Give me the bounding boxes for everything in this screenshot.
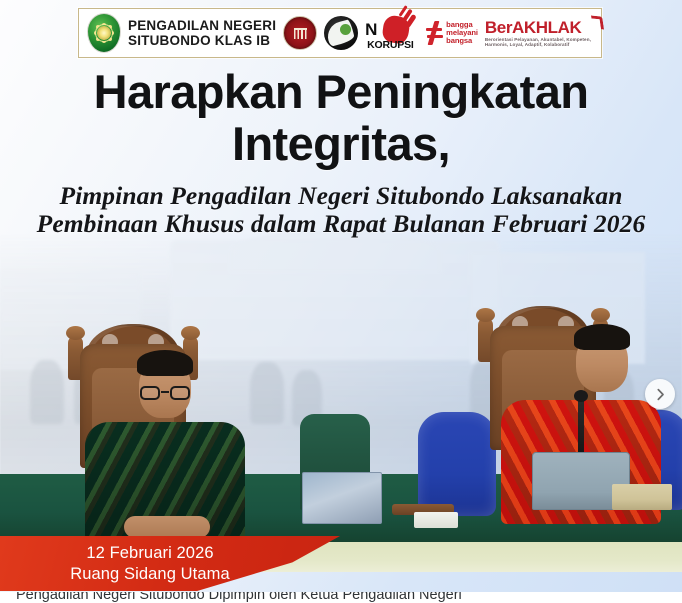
court-emblem-cell: PENGADILAN NEGERI SITUBONDO KLAS IB xyxy=(87,13,276,53)
institution-logo-strip: PENGADILAN NEGERI SITUBONDO KLAS IB N KO… xyxy=(78,8,602,58)
pengadilan-emblem-icon xyxy=(87,13,121,53)
wbk-wbbm-globe-icon xyxy=(324,16,358,50)
anti-corruption-prefix: N xyxy=(365,20,377,40)
event-location: Ruang Sidang Utama xyxy=(70,564,230,585)
event-date: 12 Februari 2026 xyxy=(86,543,213,564)
carousel-next-button[interactable] xyxy=(645,379,675,409)
person-left xyxy=(90,346,240,536)
bmb-line3: bangsa xyxy=(446,37,478,45)
court-name-line1: PENGADILAN NEGERI xyxy=(128,18,276,33)
slide-subheadline: Pimpinan Pengadilan Negeri Situbondo Lak… xyxy=(0,182,682,238)
globe-cell xyxy=(324,16,358,50)
slide-headline: Harapkan Peningkatan Integritas, xyxy=(0,66,682,170)
article-caption-text: Pengadilan Negeri Situbondo Dipimpin ole… xyxy=(16,592,682,603)
berakhlak-logo: BerAKHLAK Berorientasi Pelayanan, Akunta… xyxy=(485,19,603,48)
document-paper xyxy=(414,512,458,528)
bmb-mark-icon xyxy=(426,21,443,45)
bmb-words: bangga melayani bangsa xyxy=(446,21,478,46)
chevron-right-icon xyxy=(654,388,667,401)
berakhlak-word: BerAKHLAK xyxy=(485,19,595,36)
meeting-photo xyxy=(0,262,682,572)
court-name-line2: SITUBONDO KLAS IB xyxy=(128,33,276,48)
booklet-photo xyxy=(302,472,382,524)
anti-corruption-logo: N KORUPSI xyxy=(365,15,419,51)
nameplate xyxy=(612,484,672,510)
berakhlak-subtitle: Berorientasi Pelayanan, Akuntabel, Kompe… xyxy=(485,37,595,48)
anti-corruption-suffix: KORUPSI xyxy=(367,39,413,51)
article-caption-cutoff: Pengadilan Negeri Situbondo Dipimpin ole… xyxy=(0,592,682,603)
mahkamah-agung-seal-icon xyxy=(283,16,317,50)
news-carousel-slide: PENGADILAN NEGERI SITUBONDO KLAS IB N KO… xyxy=(0,0,682,603)
court-name: PENGADILAN NEGERI SITUBONDO KLAS IB xyxy=(128,18,276,48)
bangga-melayani-bangsa-logo: bangga melayani bangsa xyxy=(426,21,478,46)
berakhlak-check-icon xyxy=(591,15,604,29)
seal-cell xyxy=(283,16,317,50)
